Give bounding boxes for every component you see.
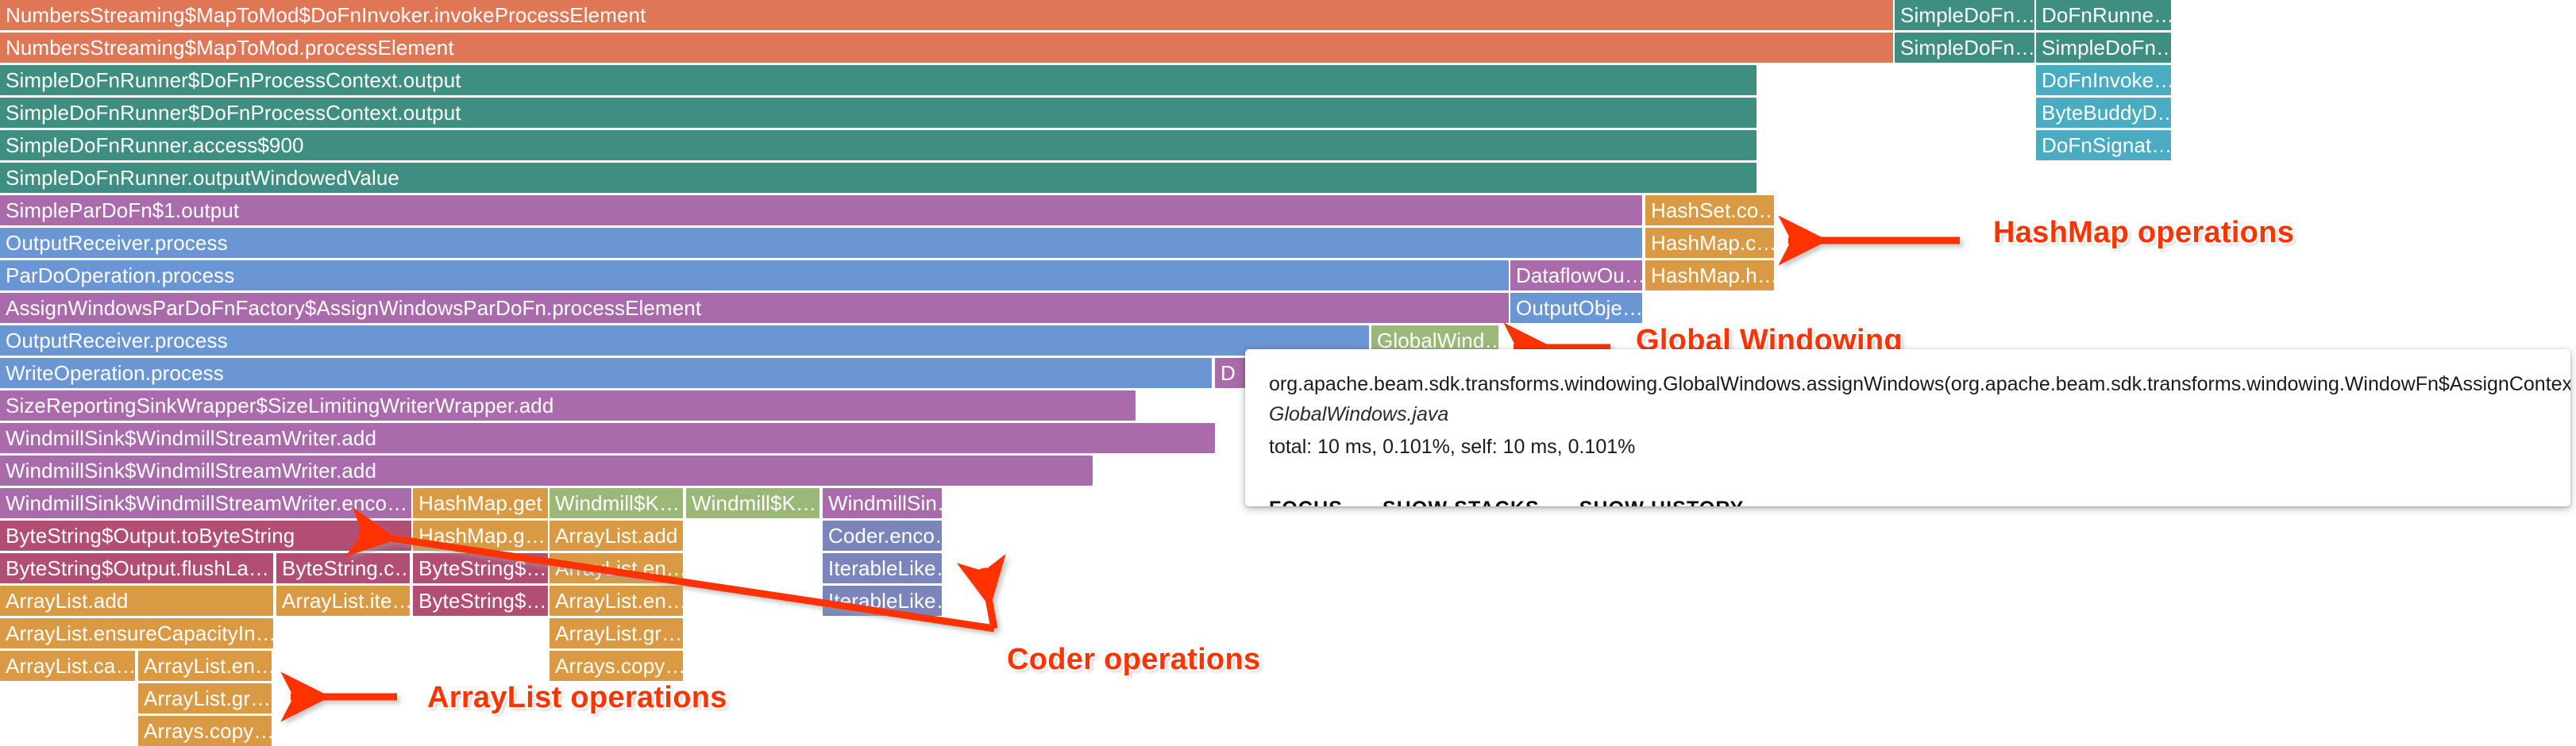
- flame-frame[interactable]: SimpleDoFn…: [2036, 33, 2171, 63]
- flame-frame[interactable]: WindmillSink$WindmillStreamWriter.add: [0, 456, 1093, 486]
- flame-frame[interactable]: ByteString$…: [413, 553, 548, 583]
- flame-frame[interactable]: SimpleDoFnRunner.outputWindowedValue: [0, 163, 1757, 193]
- flame-frame[interactable]: ArrayList.ensureCapacityIn…: [0, 618, 273, 648]
- flame-frame[interactable]: DoFnInvoke…: [2036, 65, 2171, 95]
- flame-frame[interactable]: WindmillSink$WindmillStreamWriter.enco…: [0, 488, 411, 518]
- flame-frame[interactable]: HashMap.get: [413, 488, 548, 518]
- show-stacks-button[interactable]: SHOW STACKS: [1382, 498, 1540, 506]
- flame-frame[interactable]: AssignWindowsParDoFnFactory$AssignWindow…: [0, 293, 1509, 323]
- flame-frame[interactable]: ArrayList.add: [550, 521, 683, 551]
- flame-frame[interactable]: HashMap.h…: [1645, 260, 1774, 290]
- flame-frame[interactable]: Arrays.copy…: [550, 651, 683, 681]
- flame-frame[interactable]: ArrayList.en…: [550, 586, 683, 616]
- flame-frame[interactable]: WindmillSink$WindmillStreamWriter.add: [0, 423, 1215, 453]
- flame-frame[interactable]: HashMap.g…: [413, 521, 548, 551]
- flame-frame[interactable]: ArrayList.en…: [138, 651, 272, 681]
- flame-frame[interactable]: SimpleDoFnRunner$DoFnProcessContext.outp…: [0, 98, 1757, 128]
- focus-button[interactable]: FOCUS: [1269, 498, 1343, 506]
- tooltip-file: GlobalWindows.java: [1269, 398, 2547, 430]
- flame-frame[interactable]: ArrayList.gr…: [138, 683, 272, 713]
- flame-frame[interactable]: IterableLike…: [823, 586, 942, 616]
- flame-frame[interactable]: WriteOperation.process: [0, 358, 1212, 388]
- flame-frame[interactable]: WindmillSin…: [823, 488, 942, 518]
- tooltip-signature: org.apache.beam.sdk.transforms.windowing…: [1269, 370, 2547, 398]
- flame-frame[interactable]: OutputReceiver.process: [0, 325, 1369, 356]
- flame-frame[interactable]: ByteString$Output.toByteString: [0, 521, 411, 551]
- flame-frame[interactable]: Windmill$K…: [550, 488, 683, 518]
- flame-frame[interactable]: NumbersStreaming$MapToMod$DoFnInvoker.in…: [0, 0, 1893, 30]
- flame-frame[interactable]: SimpleDoFn…: [1895, 0, 2034, 30]
- flame-frame[interactable]: HashSet.co…: [1645, 195, 1774, 225]
- flame-frame[interactable]: Arrays.copy…: [138, 716, 272, 746]
- flame-frame[interactable]: ArrayList.gr…: [550, 618, 683, 648]
- flame-frame[interactable]: DoFnSignat…: [2036, 130, 2171, 160]
- flame-frame[interactable]: SimpleDoFnRunner$DoFnProcessContext.outp…: [0, 65, 1757, 95]
- flame-frame[interactable]: OutputReceiver.process: [0, 228, 1642, 258]
- flame-frame[interactable]: HashMap.c…: [1645, 228, 1774, 258]
- tooltip-stats: total: 10 ms, 0.101%, self: 10 ms, 0.101…: [1269, 430, 2547, 464]
- tooltip-actions: FOCUS SHOW STACKS SHOW HISTORY: [1269, 498, 2547, 506]
- flame-frame[interactable]: SimpleParDoFn$1.output: [0, 195, 1642, 225]
- flame-frame[interactable]: ByteBuddyD…: [2036, 98, 2171, 128]
- flame-frame[interactable]: ArrayList.add: [0, 586, 273, 616]
- flame-frame[interactable]: ByteString$Output.flushLa…: [0, 553, 273, 583]
- flame-frame[interactable]: DataflowOu…: [1510, 260, 1642, 290]
- flame-frame[interactable]: ArrayList.ca…: [0, 651, 135, 681]
- flame-frame[interactable]: OutputObje…: [1510, 293, 1642, 323]
- flame-frame[interactable]: ByteString.c…: [276, 553, 410, 583]
- flame-frame[interactable]: NumbersStreaming$MapToMod.processElement: [0, 33, 1893, 63]
- flame-frame[interactable]: ByteString$…: [413, 586, 548, 616]
- flame-frame[interactable]: SimpleDoFnRunner.access$900: [0, 130, 1757, 160]
- flame-frame[interactable]: IterableLike…: [823, 553, 942, 583]
- flame-frame[interactable]: ArrayList.en…: [550, 553, 683, 583]
- flame-frame[interactable]: SimpleDoFn…: [1895, 33, 2034, 63]
- flame-frame[interactable]: Coder.enco…: [823, 521, 942, 551]
- flame-frame[interactable]: ArrayList.ite…: [276, 586, 410, 616]
- frame-tooltip[interactable]: org.apache.beam.sdk.transforms.windowing…: [1245, 349, 2570, 506]
- flame-frame[interactable]: ParDoOperation.process: [0, 260, 1509, 290]
- flame-frame[interactable]: SizeReportingSinkWrapper$SizeLimitingWri…: [0, 390, 1136, 421]
- flame-frame[interactable]: DoFnRunne…: [2036, 0, 2171, 30]
- flame-frame[interactable]: Windmill$K…: [686, 488, 819, 518]
- show-history-button[interactable]: SHOW HISTORY: [1579, 498, 1745, 506]
